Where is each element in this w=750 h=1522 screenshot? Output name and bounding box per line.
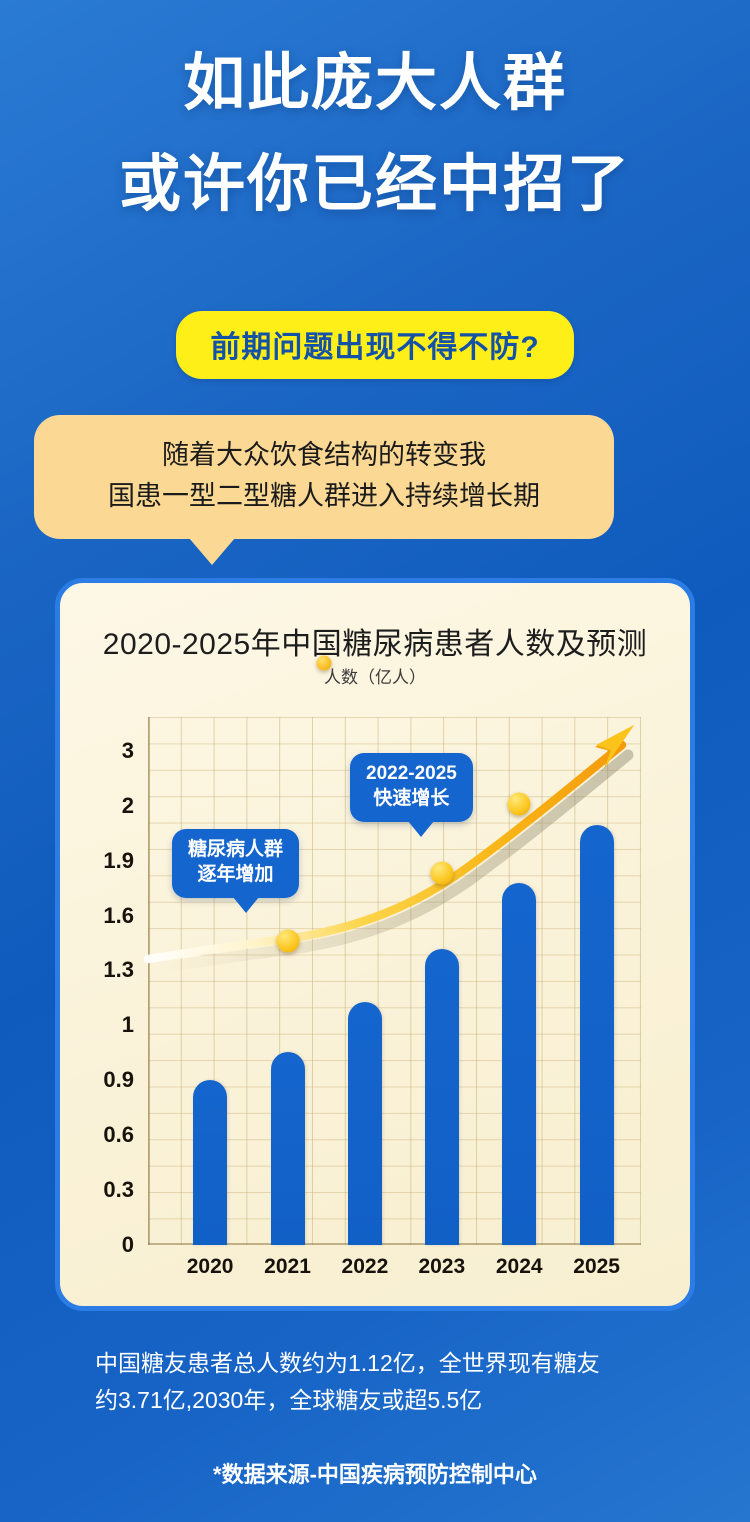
y-tick-0: 0 [122,1232,134,1258]
y-tick-06: 0.6 [103,1122,134,1148]
y-tick-3: 3 [122,738,134,764]
chart-title: 2020-2025年中国糖尿病患者人数及预测 [60,619,690,663]
page-title: 如此庞大人群 或许你已经中招了 [0,52,750,216]
x-tick-2025: 2025 [573,1255,620,1279]
trend-dot-2023 [430,861,453,884]
callout-1-line-2: 逐年增加 [188,862,283,887]
y-tick-09: 0.9 [103,1067,134,1093]
x-tick-2024: 2024 [496,1255,543,1279]
footer-line-2: 约3.71亿,2030年，全球糖友或超5.5亿 [95,1382,675,1419]
y-tick-03: 0.3 [103,1177,134,1203]
x-tick-2020: 2020 [187,1255,234,1279]
y-tick-1: 1 [122,1012,134,1038]
y-tick-16: 1.6 [103,903,134,929]
intro-speech-bubble: 随着大众饮食结构的转变我 国患一型二型糖人群进入持续增长期 [34,415,614,539]
callout-growth-yearly: 糖尿病人群 逐年增加 [172,829,299,898]
callout-1-line-1: 糖尿病人群 [188,837,283,862]
footer-summary: 中国糖友患者总人数约为1.12亿，全世界现有糖友 约3.71亿,2030年，全球… [95,1345,675,1420]
poster-root: 如此庞大人群 或许你已经中招了 前期问题出现不得不防? 随着大众饮食结构的转变我… [0,0,750,1522]
legend-label: 人数（亿人） [324,668,426,687]
callout-1-tail-icon [233,897,259,913]
headline-line-2: 或许你已经中招了 [0,153,750,216]
legend-dot-icon [317,656,332,671]
callout-2-line-2: 快速增长 [366,786,457,811]
highlight-pill-wrap: 前期问题出现不得不防? [0,311,750,379]
trend-dot-2021 [276,929,299,952]
data-source-note: *数据来源-中国疾病预防控制中心 [0,1457,750,1489]
chart-plot-area: 0 0.3 0.6 0.9 1 1.3 1.6 1.9 2 3 2020 202… [148,717,641,1245]
chart-card: 2020-2025年中国糖尿病患者人数及预测 人数（亿人） 0 0.3 0.6 … [55,578,695,1311]
footer-line-1: 中国糖友患者总人数约为1.12亿，全世界现有糖友 [95,1345,675,1382]
callout-2-line-1: 2022-2025 [366,761,457,786]
y-tick-2: 2 [122,793,134,819]
y-tick-19: 1.9 [103,848,134,874]
bubble-line-1: 随着大众饮食结构的转变我 [54,435,594,476]
x-tick-2022: 2022 [342,1255,389,1279]
trend-dot-2024 [508,793,531,816]
callout-rapid-growth: 2022-2025 快速增长 [350,753,473,822]
bubble-tail-icon [189,538,235,565]
highlight-pill: 前期问题出现不得不防? [176,311,573,379]
x-tick-2023: 2023 [418,1255,465,1279]
headline-line-1: 如此庞大人群 [0,52,750,115]
bubble-line-2: 国患一型二型糖人群进入持续增长期 [54,476,594,517]
callout-2-tail-icon [408,821,434,837]
x-tick-2021: 2021 [264,1255,311,1279]
chart-legend: 人数（亿人） [60,663,690,688]
y-tick-13: 1.3 [103,957,134,983]
